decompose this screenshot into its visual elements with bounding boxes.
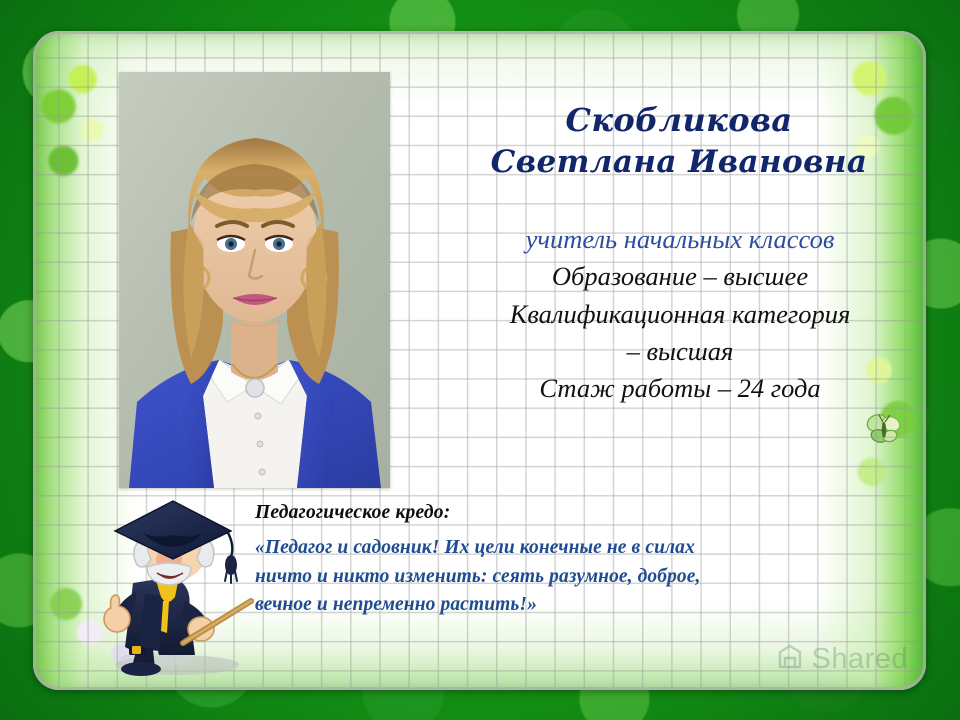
teacher-portrait-photo [119,72,390,488]
credo-title: Педагогическое кредо: [255,499,685,527]
detail-category-label: Квалификационная категория [437,296,923,333]
credo-quote-line-3: вечное и непременно растить!» [255,591,685,619]
watermark-text: Shared [811,643,908,676]
pedagogical-credo: Педагогическое кредо: «Педагог и садовни… [255,499,685,620]
teacher-details: учитель начальных классов Образование – … [437,221,923,408]
detail-position: учитель начальных классов [437,221,923,258]
credo-quote-line-2: ничто и никто изменить: сеять разумное, … [255,563,685,591]
detail-education: Образование – высшее [437,258,923,295]
credo-quote-line-1: «Педагог и садовник! Их цели конечные не… [255,534,685,562]
content-card: Скобликова Светлана Ивановна учитель нач… [33,31,926,690]
detail-experience: Стаж работы – 24 года [437,370,923,407]
slide-canvas: Скобликова Светлана Ивановна учитель нач… [0,0,960,720]
detail-category-value: – высшая [437,333,923,370]
myshared-logo-icon [776,643,806,676]
credo-quote: «Педагог и садовник! Их цели конечные не… [255,534,685,619]
teacher-given-name: Светлана Ивановна [453,142,905,184]
watermark: Shared [776,643,908,676]
professor-illustration [85,497,260,685]
teacher-name: Скобликова Светлана Ивановна [453,99,905,183]
teacher-surname: Скобликова [453,99,905,142]
butterfly-icon [864,409,904,449]
